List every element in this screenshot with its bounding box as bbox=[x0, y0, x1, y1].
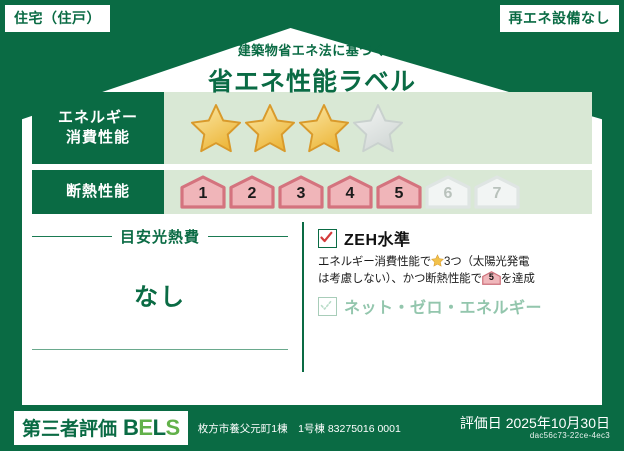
utility-cost-header: 目安光熱費 bbox=[32, 226, 288, 247]
bels-logo: 第三者評価 BELS bbox=[14, 411, 188, 445]
house-rating-scale: 1234567 bbox=[180, 175, 520, 209]
zeh-desc-part1: エネルギー消費性能で bbox=[318, 256, 431, 268]
house-level-number: 3 bbox=[297, 186, 306, 209]
energy-label-card: 住宅（住戸） 再エネ設備なし 建築物省エネ法に基づく 省エネ性能ラベル エネルギ… bbox=[0, 0, 624, 451]
house-level-number: 2 bbox=[248, 186, 257, 209]
energy-performance-row: エネルギー 消費性能 bbox=[32, 92, 592, 164]
star-filled-icon bbox=[244, 102, 296, 154]
house-level-active: 1 bbox=[180, 175, 226, 209]
bels-letter-l: L bbox=[153, 415, 166, 440]
house-level-number: 4 bbox=[346, 186, 355, 209]
star-rating bbox=[190, 102, 404, 154]
house-level-inactive: 7 bbox=[474, 175, 520, 209]
inline-house-level: 5 bbox=[482, 271, 501, 284]
bels-letter-e: E bbox=[138, 415, 152, 440]
lower-section: 目安光熱費 なし ZEH水準 エネルギー消費性能で bbox=[32, 222, 592, 372]
bels-letter-s: S bbox=[166, 415, 180, 440]
bels-letter-b: B bbox=[123, 415, 138, 440]
star-empty-icon bbox=[352, 102, 404, 154]
house-level-inactive: 6 bbox=[425, 175, 471, 209]
evaluation-info: 評価日 2025年10月30日 dac56c73-22ce-4ec3 bbox=[460, 415, 610, 440]
property-address: 枚方市養父元町1棟 1号棟 83275016 0001 bbox=[198, 421, 401, 436]
inline-star-icon bbox=[431, 254, 444, 267]
house-level-active: 3 bbox=[278, 175, 324, 209]
cost-rule-left bbox=[32, 236, 112, 237]
utility-cost-panel: 目安光熱費 なし bbox=[32, 222, 302, 372]
label-content: エネルギー 消費性能 断熱性能 1234567 目安光熱費 なし bbox=[32, 92, 592, 395]
badge-building-type: 住宅（住戸） bbox=[4, 4, 111, 33]
zeh-standard-row: ZEH水準 bbox=[318, 226, 592, 250]
insulation-performance-label: 断熱性能 bbox=[32, 170, 164, 214]
zeh-desc-part2: は考慮しない）、かつ断熱性能で bbox=[318, 273, 482, 285]
badge-renewable-energy: 再エネ設備なし bbox=[499, 4, 621, 33]
zeh-net-zero-row: ネット・ゼロ・エネルギー bbox=[318, 294, 592, 318]
star-filled-icon bbox=[298, 102, 350, 154]
zeh-panel: ZEH水準 エネルギー消費性能で 3つ（太陽光発電 は考慮しない）、かつ断熱性能… bbox=[302, 222, 592, 372]
insulation-performance-row: 断熱性能 1234567 bbox=[32, 170, 592, 214]
house-level-active: 5 bbox=[376, 175, 422, 209]
checkbox-checked-icon bbox=[318, 229, 337, 248]
zeh-standard-label: ZEH水準 bbox=[344, 226, 411, 250]
house-level-number: 1 bbox=[199, 186, 208, 209]
house-level-number: 5 bbox=[395, 186, 404, 209]
evaluation-date: 評価日 2025年10月30日 bbox=[460, 415, 610, 431]
energy-performance-label: エネルギー 消費性能 bbox=[32, 92, 164, 164]
zeh-desc-star-count: 3つ（太陽光発電 bbox=[444, 256, 529, 268]
star-filled-icon bbox=[190, 102, 242, 154]
energy-performance-value bbox=[164, 92, 592, 164]
cost-rule-right bbox=[208, 236, 288, 237]
house-level-active: 2 bbox=[229, 175, 275, 209]
insulation-performance-value: 1234567 bbox=[164, 170, 592, 214]
utility-cost-value: なし bbox=[32, 277, 288, 312]
energy-label-line1: エネルギー bbox=[58, 108, 138, 128]
house-level-number: 6 bbox=[444, 186, 453, 209]
house-level-active: 4 bbox=[327, 175, 373, 209]
bels-wordmark: BELS bbox=[123, 415, 180, 441]
utility-cost-title: 目安光熱費 bbox=[120, 226, 200, 247]
zeh-net-zero-label: ネット・ゼロ・エネルギー bbox=[344, 294, 542, 318]
inline-house-icon: 5 bbox=[482, 271, 501, 285]
checkbox-unchecked-icon bbox=[318, 297, 337, 316]
zeh-standard-description: エネルギー消費性能で 3つ（太陽光発電 は考慮しない）、かつ断熱性能で 5 を達… bbox=[318, 254, 592, 287]
energy-label-line2: 消費性能 bbox=[66, 128, 130, 148]
zeh-desc-part3: を達成 bbox=[501, 273, 535, 285]
bels-third-party-text: 第三者評価 bbox=[22, 414, 117, 441]
cost-footer-rule bbox=[32, 349, 288, 350]
evaluation-hash: dac56c73-22ce-4ec3 bbox=[460, 431, 610, 440]
house-level-number: 7 bbox=[493, 186, 502, 209]
label-footer: 第三者評価 BELS 枚方市養父元町1棟 1号棟 83275016 0001 評… bbox=[0, 405, 624, 451]
